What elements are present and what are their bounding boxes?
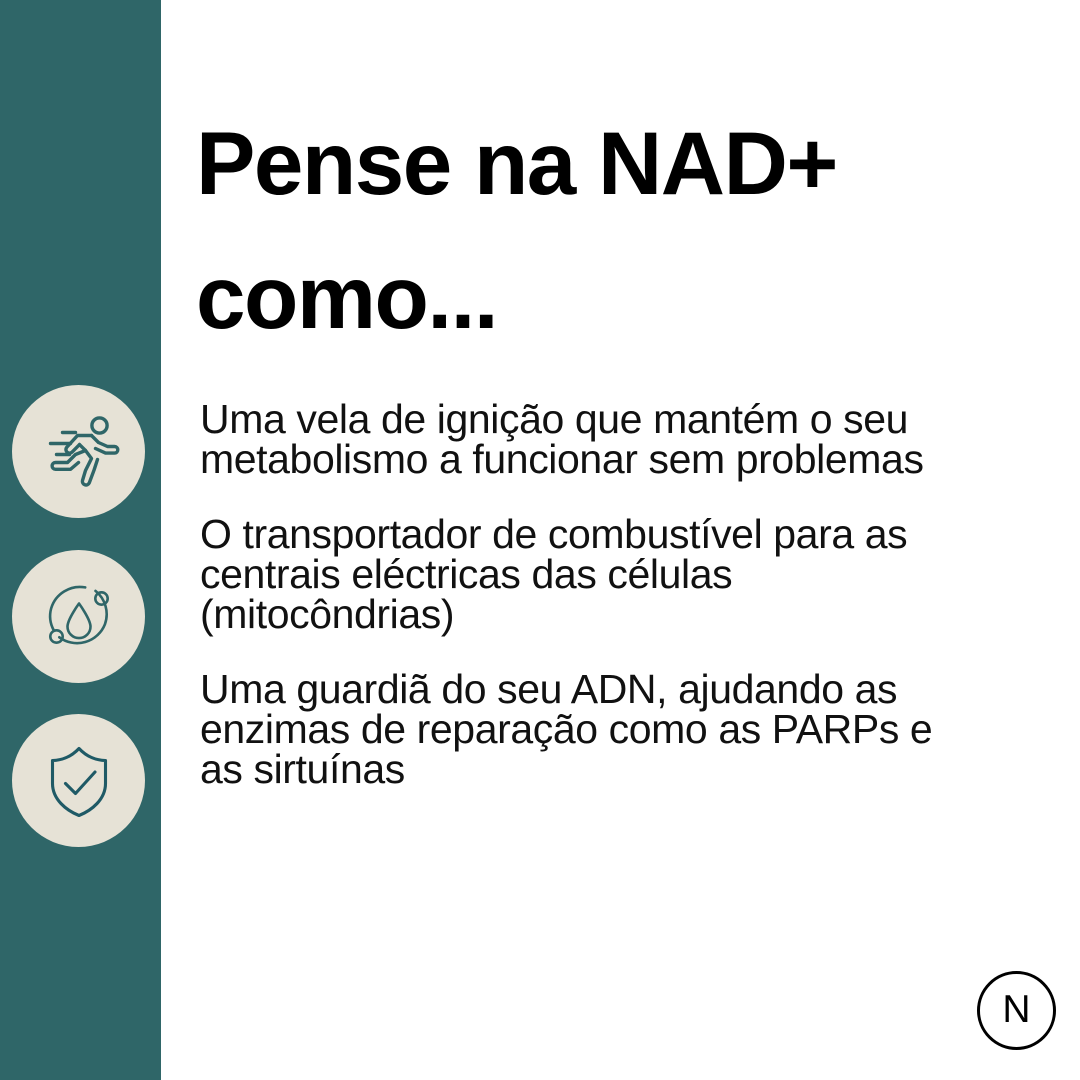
fuel-droplet-orbit-icon — [37, 575, 121, 659]
left-accent-sidebar — [0, 0, 161, 1080]
slide-canvas: Pense na NAD+ como... Uma vela de igniçã… — [0, 0, 1080, 1080]
brand-logo: N — [977, 971, 1056, 1050]
brand-logo-letter: N — [1002, 990, 1030, 1029]
benefit-item-dna-repair: Uma guardiã do seu ADN, ajudando as enzi… — [200, 669, 1052, 789]
running-person-icon — [37, 410, 121, 494]
page-title: Pense na NAD+ como... — [196, 96, 1056, 364]
shield-check-icon — [37, 739, 121, 823]
icon-badge-shield-check — [12, 714, 145, 847]
benefit-list: Uma vela de ignição que mantém o seu met… — [200, 399, 1052, 789]
icon-badge-running — [12, 385, 145, 518]
benefit-item-mitochondria: O transportador de combustível para as c… — [200, 514, 1052, 634]
icon-badge-fuel-droplet — [12, 550, 145, 683]
benefit-item-metabolism: Uma vela de ignição que mantém o seu met… — [200, 399, 1052, 479]
